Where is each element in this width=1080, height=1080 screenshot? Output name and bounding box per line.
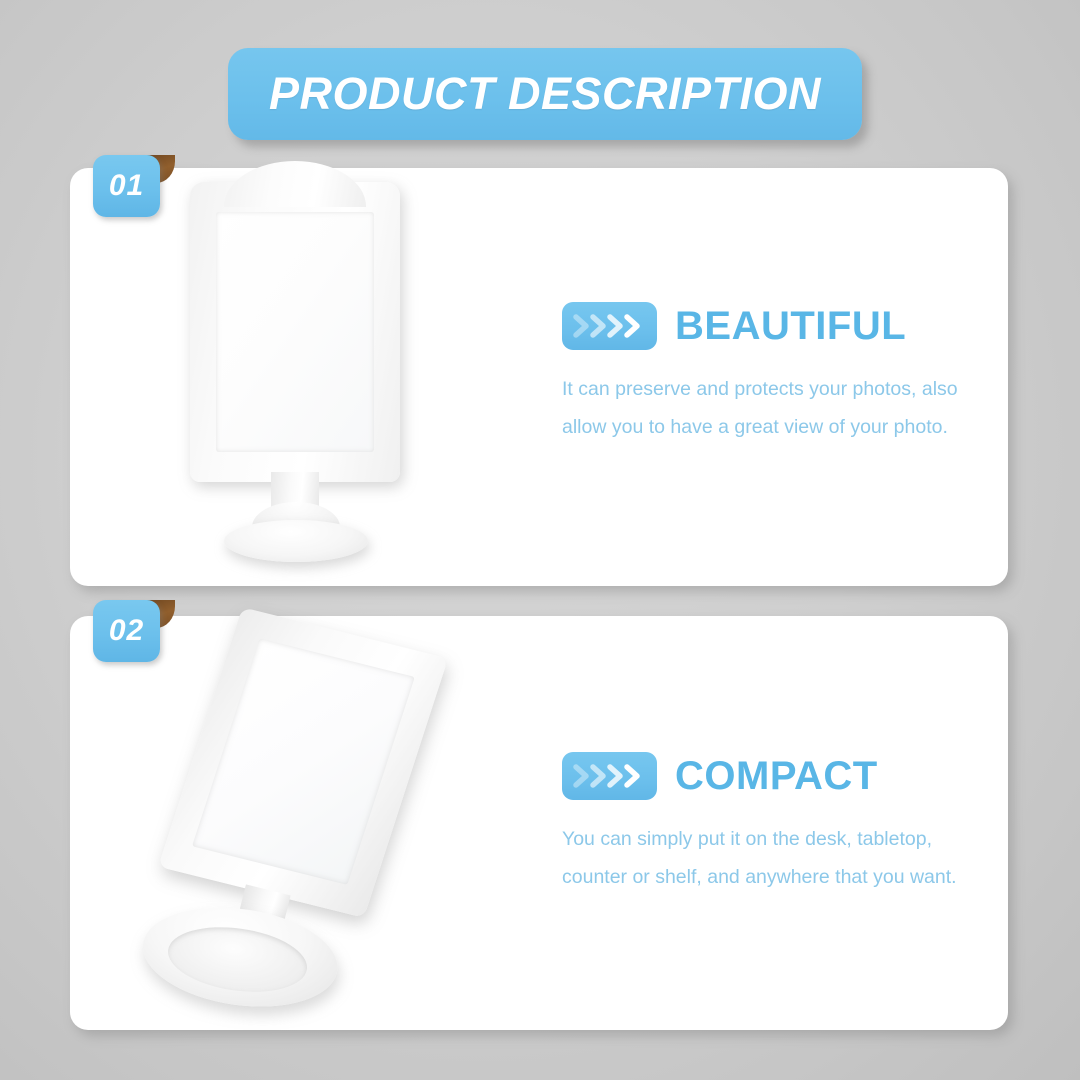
feature-heading-row-2: COMPACT [562,752,982,800]
section-number-label: 01 [109,169,144,203]
feature-heading-2: COMPACT [675,756,878,796]
page-title: PRODUCT DESCRIPTION [269,68,821,120]
feature-text-2: COMPACT You can simply put it on the des… [562,752,982,896]
double-chevron-right-icon [562,752,657,800]
section-badge-2: 02 [93,600,253,680]
section-number-badge: 02 [93,600,160,662]
double-chevron-right-icon [562,302,657,350]
header-banner: PRODUCT DESCRIPTION [228,48,862,140]
section-badge-1: 01 [93,155,253,235]
section-number-badge: 01 [93,155,160,217]
section-number-label: 02 [109,614,144,648]
feature-body-2: You can simply put it on the desk, table… [562,820,982,896]
feature-heading-1: BEAUTIFUL [675,306,906,346]
feature-text-1: BEAUTIFUL It can preserve and protects y… [562,302,982,446]
feature-heading-row-1: BEAUTIFUL [562,302,982,350]
feature-body-1: It can preserve and protects your photos… [562,370,982,446]
